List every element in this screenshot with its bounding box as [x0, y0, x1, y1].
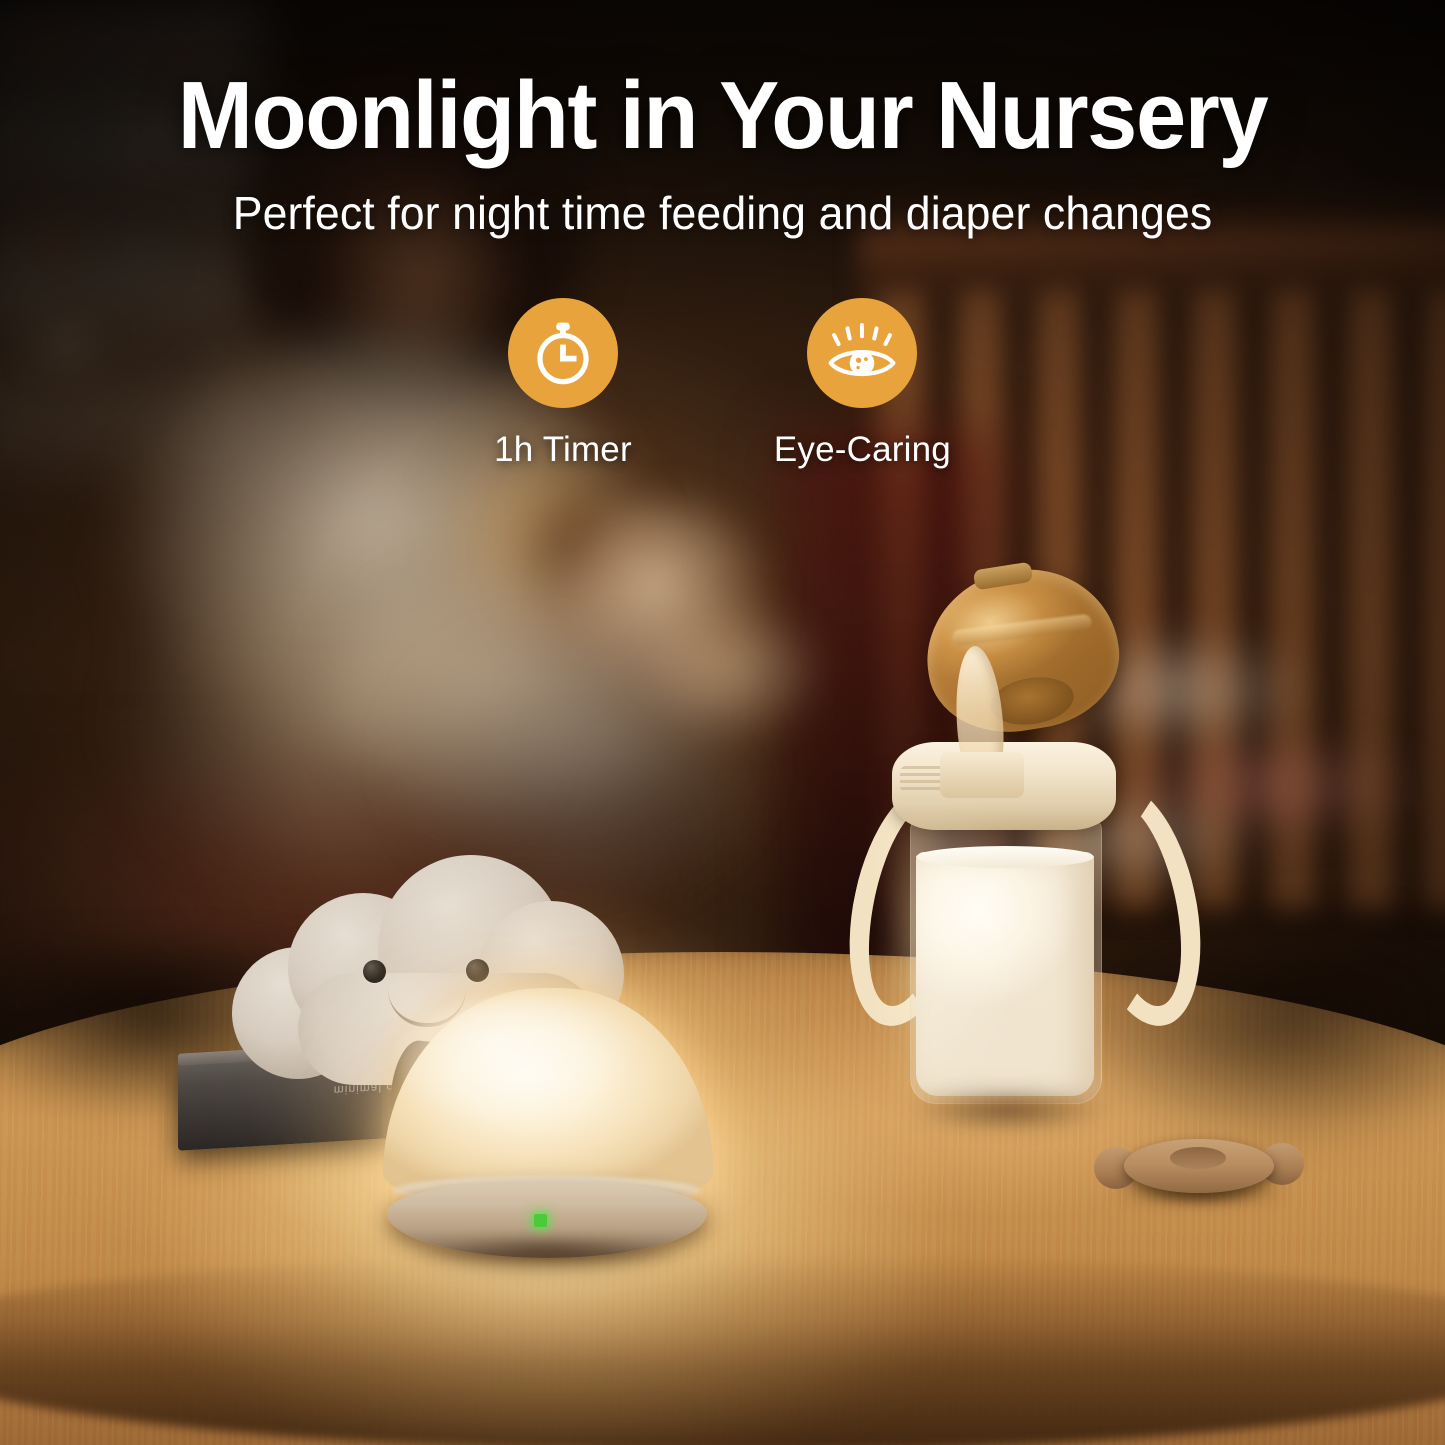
feature-badge-eye[interactable]: Eye-Caring: [774, 298, 951, 470]
text-overlay: Moonlight in Your Nursery Perfect for ni…: [0, 0, 1445, 1445]
badge-circle-timer: [508, 298, 618, 408]
subtitle: Perfect for night time feeding and diape…: [22, 186, 1424, 241]
badge-label-timer: 1h Timer: [494, 430, 632, 470]
feature-badges: 1h Timer: [0, 298, 1445, 470]
eye-icon: [824, 317, 900, 389]
badge-label-eye: Eye-Caring: [774, 430, 951, 470]
headline: Moonlight in Your Nursery: [43, 66, 1401, 166]
feature-badge-timer[interactable]: 1h Timer: [494, 298, 632, 470]
product-lifestyle-banner: minimal of Sweden: [0, 0, 1445, 1445]
stopwatch-icon: [527, 317, 599, 389]
badge-circle-eye: [807, 298, 917, 408]
